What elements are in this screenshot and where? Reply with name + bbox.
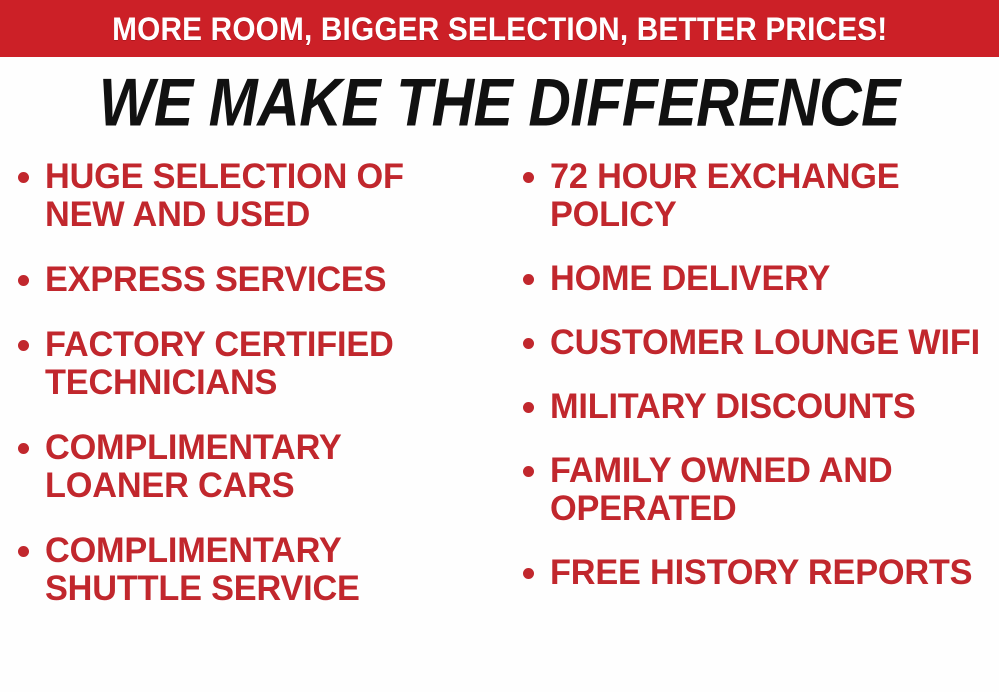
bullet-dot-icon <box>18 443 29 454</box>
bullet-dot-icon <box>18 546 29 557</box>
list-item: MILITARY DISCOUNTS <box>523 388 999 426</box>
list-item: COMPLIMENTARY LOANER CARS <box>18 429 501 505</box>
bullet-dot-icon <box>523 338 534 349</box>
features-column-right: 72 HOUR EXCHANGE POLICY HOME DELIVERY CU… <box>505 158 999 618</box>
promo-poster: MORE ROOM, BIGGER SELECTION, BETTER PRIC… <box>0 0 999 692</box>
page-title: WE MAKE THE DIFFERENCE <box>99 67 900 137</box>
bullet-dot-icon <box>523 402 534 413</box>
main-headline-area: WE MAKE THE DIFFERENCE <box>0 62 999 142</box>
list-item: COMPLIMENTARY SHUTTLE SERVICE <box>18 532 501 608</box>
list-item-label: COMPLIMENTARY SHUTTLE SERVICE <box>45 532 492 608</box>
bullet-dot-icon <box>523 568 534 579</box>
bullet-dot-icon <box>523 172 534 183</box>
banner-headline: MORE ROOM, BIGGER SELECTION, BETTER PRIC… <box>112 12 887 46</box>
top-banner: MORE ROOM, BIGGER SELECTION, BETTER PRIC… <box>0 0 999 57</box>
list-item-label: FREE HISTORY REPORTS <box>550 554 972 592</box>
features-column-left: HUGE SELECTION OF NEW AND USED EXPRESS S… <box>0 158 505 635</box>
list-item-label: HUGE SELECTION OF NEW AND USED <box>45 158 492 234</box>
bullet-dot-icon <box>18 340 29 351</box>
features-columns: HUGE SELECTION OF NEW AND USED EXPRESS S… <box>0 158 999 692</box>
bullet-dot-icon <box>523 466 534 477</box>
list-item: 72 HOUR EXCHANGE POLICY <box>523 158 999 234</box>
list-item-label: COMPLIMENTARY LOANER CARS <box>45 429 492 505</box>
list-item-label: HOME DELIVERY <box>550 260 830 298</box>
list-item: EXPRESS SERVICES <box>18 261 501 299</box>
list-item-label: FACTORY CERTIFIED TECHNICIANS <box>45 326 492 402</box>
list-item: HUGE SELECTION OF NEW AND USED <box>18 158 501 234</box>
list-item: FACTORY CERTIFIED TECHNICIANS <box>18 326 501 402</box>
list-item: FAMILY OWNED AND OPERATED <box>523 452 999 528</box>
bullet-dot-icon <box>18 172 29 183</box>
list-item: CUSTOMER LOUNGE WIFI <box>523 324 999 362</box>
list-item-label: MILITARY DISCOUNTS <box>550 388 916 426</box>
bullet-dot-icon <box>523 274 534 285</box>
list-item-label: EXPRESS SERVICES <box>45 261 386 299</box>
bullet-dot-icon <box>18 275 29 286</box>
list-item-label: FAMILY OWNED AND OPERATED <box>550 452 990 528</box>
list-item-label: CUSTOMER LOUNGE WIFI <box>550 324 980 362</box>
list-item-label: 72 HOUR EXCHANGE POLICY <box>550 158 990 234</box>
list-item: HOME DELIVERY <box>523 260 999 298</box>
list-item: FREE HISTORY REPORTS <box>523 554 999 592</box>
